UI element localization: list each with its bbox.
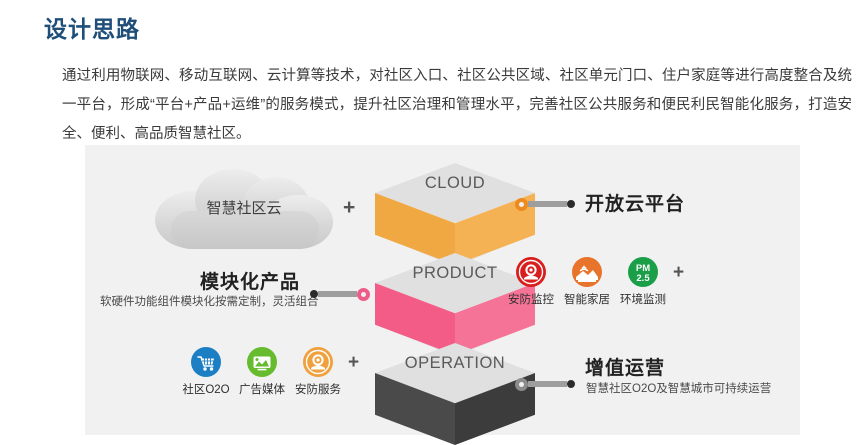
media-image-icon (247, 347, 277, 377)
icon-item-security-service[interactable]: 安防服务 (290, 347, 346, 398)
label-modular-product-sub: 软硬件功能组件模块化按需定制，灵活组合 (100, 293, 319, 309)
intro-paragraph: 通过利用物联网、移动互联网、云计算等技术，对社区入口、社区公共区域、社区单元门口… (62, 62, 852, 149)
box-operation[interactable]: OPERATION (375, 343, 535, 445)
icon-caption: 社区O2O (182, 384, 229, 396)
camera-service-icon (303, 347, 333, 377)
connector-dot-icon (567, 200, 575, 208)
icon-caption: 安防服务 (295, 384, 341, 396)
icon-item-smart-home[interactable]: 智能家居 (559, 257, 615, 308)
box-label-cloud: CLOUD (375, 174, 535, 193)
icon-caption: 环境监测 (620, 294, 666, 306)
icon-caption: 广告媒体 (239, 384, 285, 396)
label-open-cloud-platform: 开放云平台 (585, 189, 685, 216)
box-cloud[interactable]: CLOUD (375, 163, 535, 265)
svg-text:2.5: 2.5 (636, 273, 650, 284)
page-title: 设计思路 (44, 16, 140, 44)
diagram-panel: 智慧社区云 + CLOUD PRODUCT OPERATION 开放云平台 模块… (85, 145, 800, 435)
icon-item-ad-media[interactable]: 广告媒体 (234, 347, 290, 398)
label-modular-product: 模块化产品 (200, 267, 300, 294)
icon-caption: 智能家居 (564, 294, 610, 306)
connector-bar (528, 381, 567, 387)
connector-operation (515, 377, 575, 391)
operation-icon-group: 社区O2O 广告媒体 (178, 347, 359, 398)
connector-ring-icon (515, 378, 528, 391)
connector-ring-icon (357, 288, 370, 301)
icon-item-community-o2o[interactable]: 社区O2O (178, 347, 234, 398)
smart-home-wifi-icon (572, 257, 602, 287)
plus-sign-operation: + (348, 352, 359, 374)
plus-sign-cloud: + (343, 197, 355, 218)
cloud-shape: 智慧社区云 (155, 167, 333, 249)
label-value-added-operation: 增值运营 (585, 353, 665, 380)
cloud-label: 智慧社区云 (155, 197, 333, 218)
connector-bar (318, 291, 357, 297)
pm25-icon: PM 2.5 (628, 257, 658, 287)
connector-dot-icon (567, 380, 575, 388)
shopping-cart-icon (191, 347, 221, 377)
icon-caption: 安防监控 (508, 294, 554, 306)
label-value-added-operation-sub: 智慧社区O2O及智慧城市可持续运营 (586, 380, 771, 396)
icon-item-environment-monitor[interactable]: PM 2.5 环境监测 (615, 257, 671, 308)
connector-bar (528, 201, 567, 207)
connector-cloud (515, 197, 575, 211)
connector-product (310, 287, 370, 301)
box-label-product: PRODUCT (375, 264, 535, 283)
box-label-operation: OPERATION (375, 354, 535, 373)
plus-sign-product: + (673, 262, 684, 284)
connector-ring-icon (515, 198, 528, 211)
connector-dot-icon (310, 290, 318, 298)
